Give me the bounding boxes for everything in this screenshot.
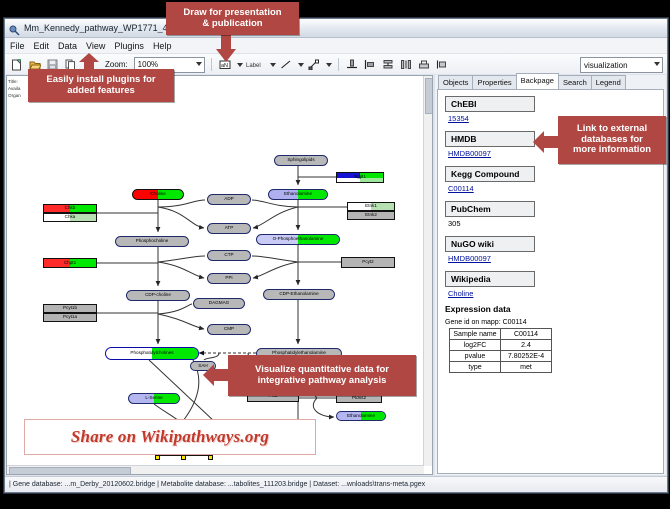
callout-plugins-line1: Easily install plugins for — [46, 75, 155, 86]
node-ethanolamine-right[interactable]: Ethanolamine — [336, 411, 386, 421]
gene-chkb[interactable]: Chkb — [43, 204, 97, 213]
align-left-icon[interactable] — [363, 57, 378, 72]
line-icon[interactable] — [279, 57, 294, 72]
chebi-header: ChEBI — [445, 96, 535, 112]
node-cdp-ethanolamine[interactable]: CDP-Ethanolamine — [263, 289, 335, 300]
svg-text:aN: aN — [221, 63, 228, 69]
callout-draw: Draw for presentation & publication — [166, 2, 299, 35]
table-row: log2FC 2.4 — [450, 340, 552, 351]
node-sphingolipids[interactable]: Sphingolipids — [274, 155, 328, 166]
selection-handle[interactable] — [181, 455, 186, 460]
label-icon[interactable]: Label — [246, 57, 266, 72]
line-dropdown-icon[interactable] — [298, 63, 304, 67]
anchor-icon[interactable] — [307, 57, 322, 72]
expr-key: Sample name — [450, 329, 501, 340]
node-cdp-choline[interactable]: CDP-choline — [126, 290, 190, 301]
menubar[interactable]: File Edit Data View Plugins Help — [5, 38, 667, 54]
gene-label: Pcyt2 — [362, 260, 374, 265]
node-label: DAGMAG — [209, 301, 229, 306]
callout-link-line3: more information — [573, 145, 651, 156]
tab-backpage[interactable]: Backpage — [516, 73, 559, 89]
kegg-compound-link[interactable]: C00114 — [448, 184, 659, 193]
gene-label: Sgpl1 — [354, 175, 366, 180]
expr-val: C00114 — [501, 329, 552, 340]
tab-properties[interactable]: Properties — [472, 75, 516, 89]
node-label: Sphingolipids — [287, 158, 314, 163]
expression-data-title: Expression data — [445, 304, 659, 314]
expr-val: met — [501, 362, 552, 373]
svg-text:Label: Label — [246, 63, 261, 69]
pubchem-value: 305 — [448, 219, 659, 228]
node-label: ADP — [224, 197, 233, 202]
node-label: Ethanolamine — [347, 414, 375, 419]
wikipedia-link[interactable]: Choline — [448, 289, 659, 298]
tab-legend[interactable]: Legend — [591, 75, 626, 89]
node-label: CTP — [224, 253, 233, 258]
node-ctp[interactable]: CTP — [207, 250, 251, 261]
callout-link-line1: Link to external — [577, 124, 647, 135]
gene-etnk1[interactable]: Etnk1 — [347, 202, 395, 211]
callout-plugins-line2: added features — [67, 86, 135, 97]
node-cmp[interactable]: CMP — [207, 324, 251, 335]
status-text: | Gene database: ...m_Derby_20120602.bri… — [9, 481, 425, 488]
zoom-value: 100% — [138, 60, 158, 69]
selection-handle[interactable] — [155, 455, 160, 460]
new-icon[interactable] — [9, 57, 24, 72]
tab-search[interactable]: Search — [558, 75, 592, 89]
gene-sgpl1[interactable]: Sgpl1 — [336, 172, 384, 183]
callout-draw-line2: & publication — [202, 19, 262, 30]
canvas-vertical-scrollbar[interactable] — [423, 76, 432, 466]
stack-icon[interactable] — [381, 57, 396, 72]
status-bar: | Gene database: ...m_Derby_20120602.bri… — [5, 476, 667, 492]
toolbar-separator-2 — [338, 58, 339, 71]
node-adp[interactable]: ADP — [207, 194, 251, 205]
node-label: CMP — [224, 327, 234, 332]
callout-link: Link to external databases for more info… — [558, 116, 666, 164]
gene-id-note: Gene id on mapp: C00114 — [445, 319, 659, 326]
callout-link-arrow — [533, 131, 559, 153]
screenshot-root: Mm_Kennedy_pathway_WP1771_45176.gpml Fil… — [0, 0, 670, 509]
wikipedia-header: Wikipedia — [445, 271, 535, 287]
chevron-down-icon[interactable] — [196, 62, 202, 66]
node-label: CDP-choline — [145, 293, 171, 298]
menu-view[interactable]: View — [86, 41, 105, 51]
zoom-label: Zoom: — [105, 60, 128, 69]
node-label: Ethanolamine — [284, 192, 312, 197]
node-dagmag[interactable]: DAGMAG — [193, 298, 245, 309]
callout-visualize-line1: Visualize quantitative data for — [255, 365, 389, 376]
gene-label: Ptdss2 — [352, 396, 366, 401]
expr-key: pvalue — [450, 351, 501, 362]
node-phosphatidylcholines[interactable]: Phosphatidylcholines — [105, 347, 199, 360]
node-label: Phosphatidylcholines — [130, 351, 173, 356]
gene-chpt1[interactable]: Chpt1 — [43, 258, 97, 268]
gene-label: Chka — [65, 215, 76, 220]
callout-plugins: Easily install plugins for added feature… — [28, 69, 174, 102]
node-o-phosphoethanolamine[interactable]: O-Phosphoethanolamine — [256, 234, 340, 245]
gene-label: Chkb — [65, 206, 76, 211]
callout-visualize-arrow — [203, 364, 230, 386]
menu-file[interactable]: File — [10, 41, 25, 51]
gene-pcyt1a[interactable]: Pcyt1a — [43, 313, 97, 322]
gene-label: Etnk1 — [365, 204, 377, 209]
callout-visualize: Visualize quantitative data for integrat… — [228, 355, 416, 396]
gene-pcyt1b[interactable]: Pcyt1b — [43, 304, 97, 313]
node-ppi[interactable]: PPi — [207, 273, 251, 284]
app-icon — [9, 23, 20, 34]
node-label: O-Phosphoethanolamine — [273, 237, 324, 242]
node-label: ATP — [225, 226, 234, 231]
node-label: PPi — [225, 276, 232, 281]
canvas-horizontal-scrollbar[interactable] — [7, 465, 424, 474]
callout-draw-line1: Draw for presentation — [183, 8, 281, 19]
anchor-dropdown-icon[interactable] — [326, 63, 332, 67]
order-icon[interactable] — [435, 57, 450, 72]
node-label: Phosphocholine — [136, 239, 169, 244]
node-label: L-Serine — [145, 396, 162, 401]
canvas-surface[interactable]: Title: Availa Organ — [7, 76, 432, 474]
hmdb-header: HMDB — [445, 131, 535, 147]
toolbar-separator — [211, 58, 212, 71]
table-row: Sample name C00114 — [450, 329, 552, 340]
datanode-dropdown-icon[interactable] — [237, 63, 243, 67]
gene-pcyt2[interactable]: Pcyt2 — [341, 257, 395, 268]
gene-label: Chpt1 — [64, 261, 76, 266]
expr-val: 7.80252E-4 — [501, 351, 552, 362]
menu-data[interactable]: Data — [58, 41, 77, 51]
callout-draw-arrow — [215, 33, 237, 63]
visualization-combobox[interactable]: visualization — [580, 57, 663, 73]
pubchem-header: PubChem — [445, 201, 535, 217]
distribute-icon[interactable] — [399, 57, 414, 72]
expr-key: log2FC — [450, 340, 501, 351]
expr-key: type — [450, 362, 501, 373]
expression-table: Sample name C00114 log2FC 2.4 pvalue 7.8… — [449, 328, 552, 373]
node-ethanolamine[interactable]: Ethanolamine — [268, 189, 328, 200]
callout-share-text: Share on Wikipathways.org — [71, 427, 269, 447]
gene-chka[interactable]: Chka — [43, 213, 97, 222]
gene-etnk2[interactable]: Etnk2 — [347, 211, 395, 220]
menu-help[interactable]: Help — [153, 41, 172, 51]
group-icon[interactable] — [417, 57, 432, 72]
node-l-serine-left[interactable]: L-Serine — [128, 393, 180, 404]
menu-edit[interactable]: Edit — [34, 41, 50, 51]
nugo-wiki-header: NuGO wiki — [445, 236, 535, 252]
label-dropdown-icon[interactable] — [270, 63, 276, 67]
gene-label: Pcyt1a — [63, 315, 77, 320]
node-choline-top[interactable]: Choline — [132, 189, 184, 200]
node-phosphocholine[interactable]: Phosphocholine — [115, 236, 189, 247]
menu-plugins[interactable]: Plugins — [114, 41, 144, 51]
chevron-down-icon-viz[interactable] — [654, 62, 660, 66]
selection-handle[interactable] — [208, 455, 213, 460]
visualization-value: visualization — [584, 61, 628, 70]
table-row: type met — [450, 362, 552, 373]
node-label: Choline — [150, 192, 166, 197]
callout-visualize-line2: integrative pathway analysis — [258, 376, 387, 387]
callout-share: Share on Wikipathways.org — [24, 419, 316, 455]
node-atp[interactable]: ATP — [207, 223, 251, 234]
gene-label: Pcyt1b — [63, 306, 77, 311]
side-panel-tabs[interactable]: Objects Properties Backpage Search Legen… — [435, 75, 666, 89]
nugo-wiki-link[interactable]: HMDB00097 — [448, 254, 659, 263]
node-label: CDP-Ethanolamine — [279, 292, 318, 297]
pathway-canvas[interactable]: Title: Availa Organ — [6, 75, 433, 475]
window-titlebar: Mm_Kennedy_pathway_WP1771_45176.gpml — [5, 19, 667, 38]
tab-objects[interactable]: Objects — [438, 75, 473, 89]
align-bottom-icon[interactable] — [345, 57, 360, 72]
table-row: pvalue 7.80252E-4 — [450, 351, 552, 362]
expr-val: 2.4 — [501, 340, 552, 351]
gene-label: Etnk2 — [365, 213, 377, 218]
kegg-compound-header: Kegg Compound — [445, 166, 535, 182]
